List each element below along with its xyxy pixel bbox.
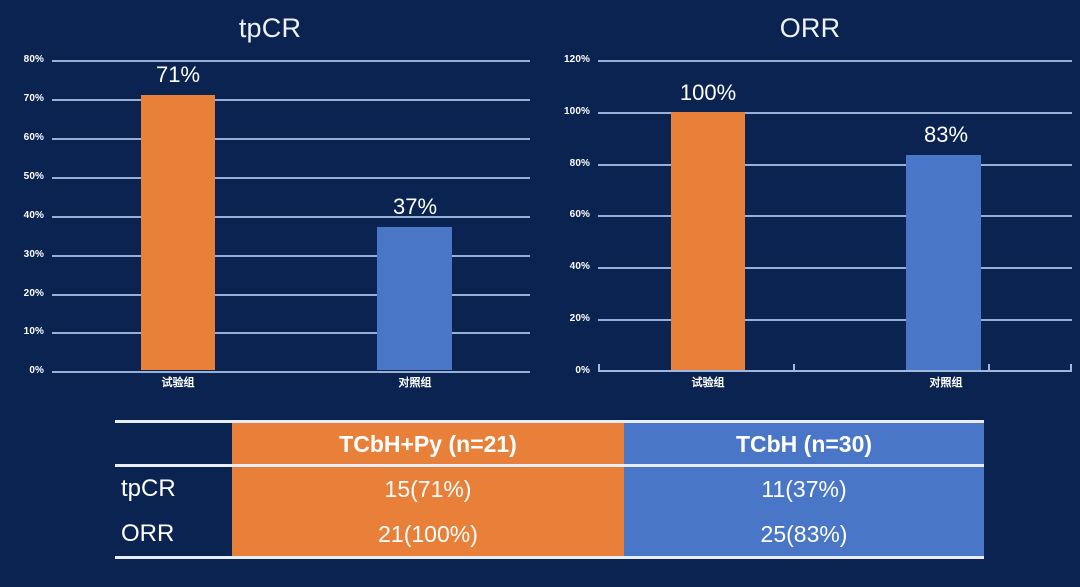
y-tick-label: 20% — [540, 314, 590, 324]
gridline — [598, 267, 1072, 269]
chart-tpcr: tpCR 80% 70% 60% 50% 40% 30% 20% 10% 0% … — [0, 0, 540, 400]
bar-orr-experimental[interactable] — [671, 112, 745, 370]
gridline — [52, 138, 530, 140]
y-tick-label: 80% — [0, 55, 44, 65]
x-axis-line — [598, 370, 1072, 372]
bar-tpcr-experimental[interactable] — [141, 95, 215, 370]
y-tick-label: 80% — [540, 159, 590, 169]
gridline — [598, 319, 1072, 321]
table-cell-value: 21(100%) — [378, 520, 478, 548]
bar-tpcr-control[interactable] — [377, 227, 452, 370]
gridline — [598, 60, 1072, 62]
axis-tick — [598, 364, 600, 371]
x-axis-label-control: 对照组 — [886, 376, 1006, 390]
table-cell-value: 15(71%) — [385, 475, 472, 503]
table-cell: 11(37%) — [624, 467, 984, 511]
summary-table: TCbH+Py (n=21) TCbH (n=30) tpCR 15(71%) … — [115, 420, 984, 560]
x-axis-label-experimental: 试验组 — [118, 376, 238, 390]
chart-title-orr: ORR — [540, 8, 1080, 48]
x-axis-label-experimental: 试验组 — [648, 376, 768, 390]
y-tick-label: 50% — [0, 172, 44, 182]
table-header-control: TCbH (n=30) — [624, 423, 984, 464]
bar-orr-control[interactable] — [906, 155, 981, 370]
bar-value-label: 100% — [648, 80, 768, 106]
table-cell: 15(71%) — [232, 467, 624, 511]
y-tick-label: 30% — [0, 250, 44, 260]
gridline — [52, 99, 530, 101]
table-row-label: ORR — [121, 520, 174, 548]
table-cell: 21(100%) — [232, 511, 624, 556]
axis-tick — [988, 364, 990, 371]
table-row: tpCR — [115, 467, 238, 511]
y-tick-label: 40% — [540, 262, 590, 272]
bar-value-label: 71% — [118, 62, 238, 88]
slide-canvas: tpCR 80% 70% 60% 50% 40% 30% 20% 10% 0% … — [0, 0, 1080, 587]
gridline — [52, 255, 530, 257]
table-row: ORR — [115, 511, 238, 556]
y-tick-label: 60% — [0, 133, 44, 143]
y-tick-label: 20% — [0, 289, 44, 299]
table-rule-bottom — [115, 556, 984, 559]
axis-tick — [1070, 364, 1072, 371]
y-tick-label: 60% — [540, 210, 590, 220]
table-header-label: TCbH+Py (n=21) — [339, 431, 517, 457]
axis-tick — [793, 364, 795, 371]
y-tick-label: 100% — [540, 107, 590, 117]
table-row-label: tpCR — [121, 475, 176, 503]
gridline — [52, 294, 530, 296]
gridline — [52, 177, 530, 179]
y-tick-label: 120% — [540, 55, 590, 65]
table-cell-value: 25(83%) — [761, 520, 848, 548]
gridline — [598, 215, 1072, 217]
y-tick-label: 70% — [0, 94, 44, 104]
gridline — [598, 112, 1072, 114]
y-tick-label: 40% — [0, 211, 44, 221]
table-cell: 25(83%) — [624, 511, 984, 556]
table-header-experimental: TCbH+Py (n=21) — [232, 423, 624, 464]
table-corner-cell — [115, 423, 232, 464]
gridline — [52, 371, 530, 373]
table-cell-value: 11(37%) — [761, 475, 846, 503]
chart-orr: ORR 120% 100% 80% 60% 40% 20% 0% 100% 83… — [540, 0, 1080, 400]
table-header-label: TCbH (n=30) — [736, 431, 872, 457]
gridline — [598, 164, 1072, 166]
y-tick-label: 10% — [0, 327, 44, 337]
bar-value-label: 37% — [355, 194, 475, 220]
bar-value-label: 83% — [886, 122, 1006, 148]
x-axis-label-control: 对照组 — [355, 376, 475, 390]
gridline — [52, 332, 530, 334]
y-tick-label: 0% — [540, 366, 590, 376]
chart-title-tpcr: tpCR — [0, 8, 540, 48]
y-tick-label: 0% — [0, 366, 44, 376]
